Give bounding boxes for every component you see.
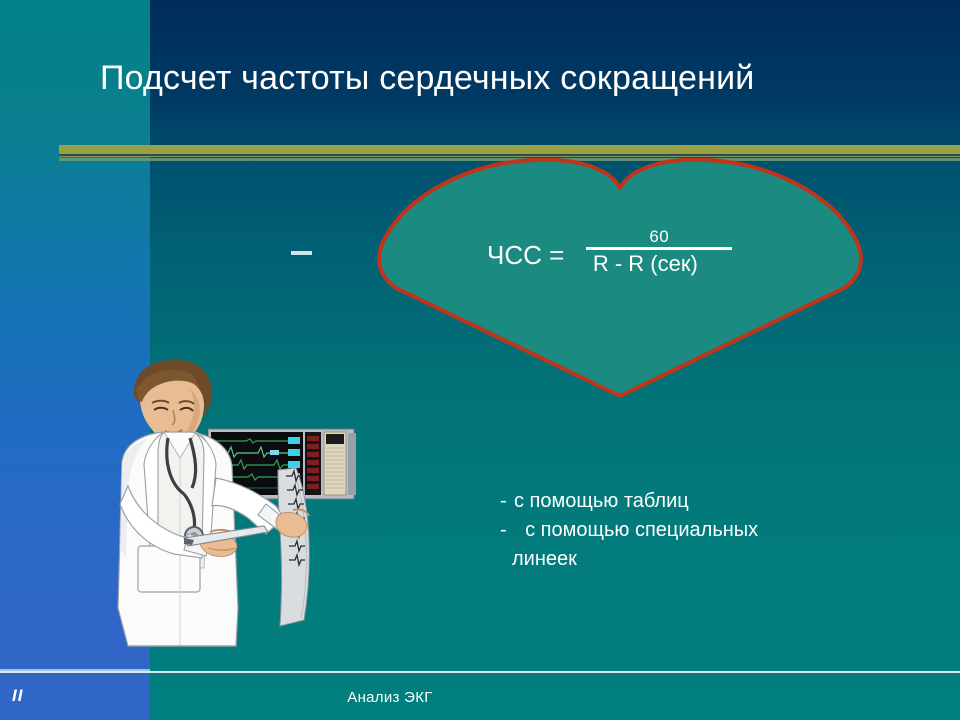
formula-numerator: 60 [649, 228, 669, 247]
formula-left-side: ЧСС = [487, 242, 586, 268]
list-item: -с помощью таблиц [500, 487, 920, 516]
formula-denominator: R - R (сек) [593, 250, 698, 277]
list-bullet-dash: - [500, 516, 514, 545]
list-item-label: с помощью таблиц [514, 490, 689, 512]
page-title: Подсчет частоты сердечных сокращений [100, 57, 920, 99]
list-item-continuation: линеек [500, 545, 920, 574]
slide-canvas: Подсчет частоты сердечных сокращений ЧСС… [0, 0, 960, 720]
heart-rate-formula: ЧСС = 60 R - R (сек) [487, 230, 732, 279]
footer-divider [0, 671, 960, 673]
doctor-illustration [88, 358, 328, 648]
page-number: II [12, 686, 23, 706]
lead-dash-mark [291, 251, 312, 255]
methods-list: -с помощью таблиц - с помощью специальны… [500, 487, 920, 574]
footer-caption: Анализ ЭКГ [190, 689, 590, 706]
footer-divider-strip [0, 669, 150, 671]
formula-fraction: 60 R - R (сек) [586, 228, 732, 277]
divider-band-light [59, 156, 960, 157]
list-item-label: линеек [512, 548, 577, 570]
left-accent-strip-footer [0, 648, 150, 720]
list-bullet-dash: - [500, 487, 514, 516]
list-item: - с помощью специальных [500, 516, 920, 545]
divider-band-olive [59, 145, 960, 154]
list-item-label: с помощью специальных [525, 519, 758, 541]
